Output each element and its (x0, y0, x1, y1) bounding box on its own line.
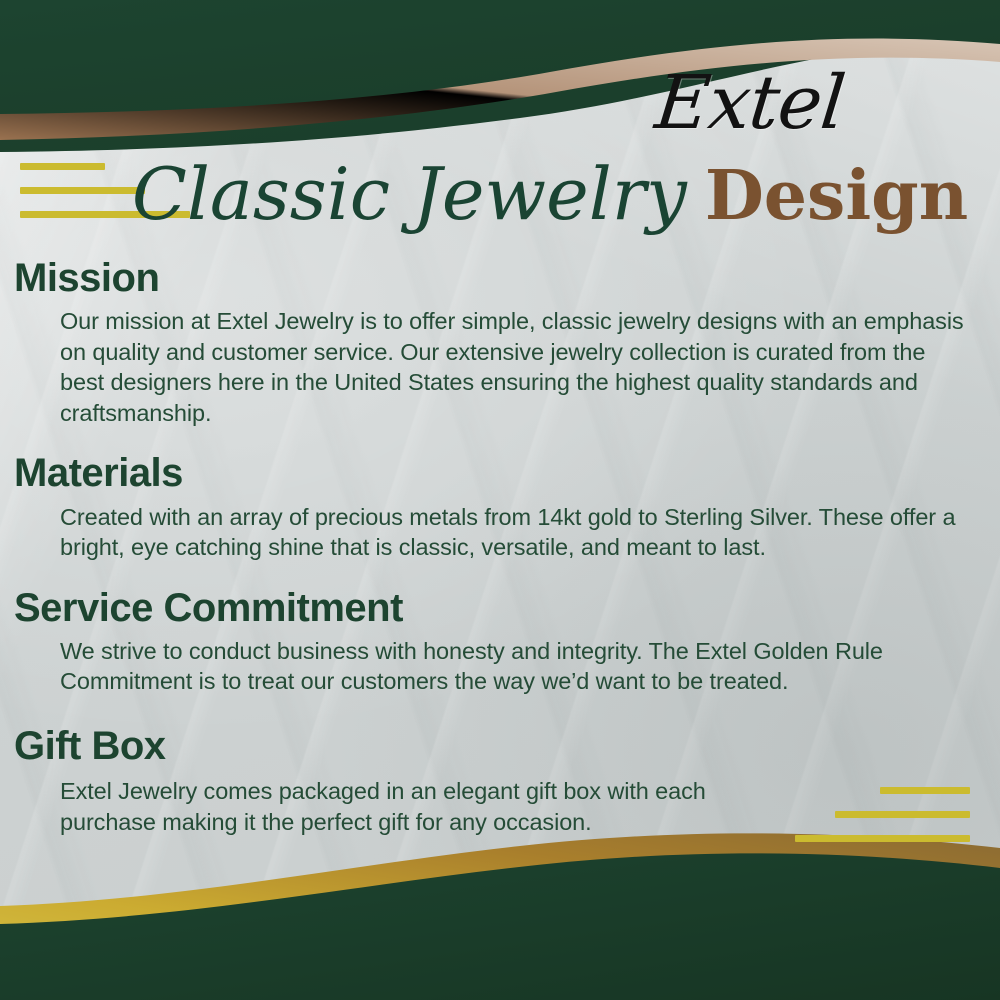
page-title: Classic JewelryDesign (0, 158, 1000, 230)
section-body-service-commitment: We strive to conduct business with hones… (60, 636, 966, 697)
page-title-accent: Design (705, 156, 968, 236)
section-gift-box: Gift Box Extel Jewelry comes packaged in… (0, 723, 1000, 837)
section-heading-gift-box: Gift Box (14, 723, 1000, 770)
section-heading-service-commitment: Service Commitment (14, 585, 1000, 632)
section-heading-materials: Materials (14, 450, 1000, 497)
brand-logo-extel: Extel (596, 66, 904, 140)
poster-canvas: Extel Classic JewelryDesign Mission Our … (0, 0, 1000, 1000)
section-heading-mission: Mission (14, 255, 1000, 302)
section-body-mission: Our mission at Extel Jewelry is to offer… (60, 306, 966, 428)
content-sections: Mission Our mission at Extel Jewelry is … (0, 255, 1000, 845)
section-materials: Materials Created with an array of preci… (0, 450, 1000, 562)
section-service-commitment: Service Commitment We strive to conduct … (0, 585, 1000, 697)
section-mission: Mission Our mission at Extel Jewelry is … (0, 255, 1000, 428)
section-body-gift-box: Extel Jewelry comes packaged in an elega… (60, 776, 750, 837)
section-body-materials: Created with an array of precious metals… (60, 502, 966, 563)
bottom-wave-ornament (0, 820, 1000, 1000)
page-title-main: Classic Jewelry (132, 152, 687, 236)
